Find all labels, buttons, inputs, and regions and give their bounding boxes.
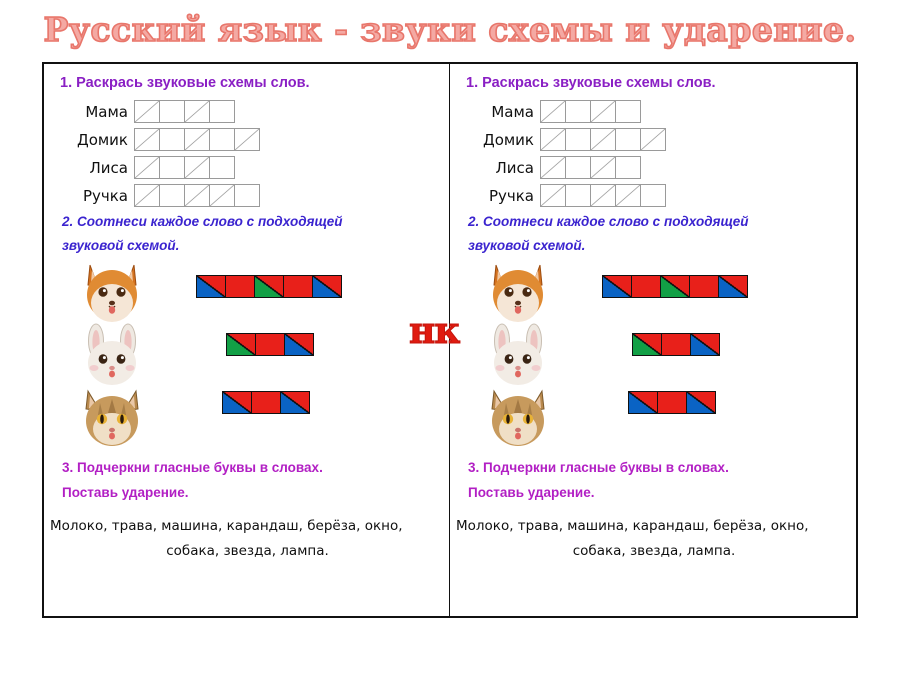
scheme-cell[interactable] [234, 128, 260, 151]
scheme-cell[interactable] [209, 184, 235, 207]
word-label: Лиса [466, 159, 540, 177]
scheme-cell[interactable] [159, 100, 185, 123]
word-row: Мама [466, 98, 848, 125]
scheme-cell-colored[interactable] [222, 391, 252, 414]
rabbit-face-icon [76, 323, 148, 389]
rabbit-face-icon [482, 323, 554, 389]
scheme-cell-colored[interactable] [254, 275, 284, 298]
scheme-cell-colored[interactable] [251, 391, 281, 414]
task2-heading-line2: звуковой схемой. [468, 234, 848, 258]
scheme-cell-colored[interactable] [660, 275, 690, 298]
page-title: Русский язык - звуки схемы и ударение. [0, 10, 900, 49]
scheme-cell[interactable] [184, 184, 210, 207]
task3-heading-line1: 3. Подчеркни гласные буквы в словах. [468, 456, 848, 481]
word-list-line2: собака, звезда, лампа. [460, 539, 848, 564]
word-label: Мама [466, 103, 540, 121]
scheme-cell[interactable] [640, 184, 666, 207]
scheme-cell[interactable] [209, 128, 235, 151]
word-row: Домик [60, 126, 441, 153]
word-list-line2: собака, звезда, лампа. [54, 539, 441, 564]
scheme-cell[interactable] [134, 100, 160, 123]
scheme-cell[interactable] [615, 128, 641, 151]
sound-scheme-blank[interactable] [540, 184, 665, 207]
task3-heading-line2: Поставь ударение. [468, 481, 848, 506]
fox-face-icon [76, 261, 148, 327]
scheme-cell[interactable] [615, 184, 641, 207]
scheme-cell[interactable] [540, 128, 566, 151]
task3-word-list-left: Молоко, трава, машина, карандаш, берёза,… [54, 514, 441, 564]
task2-heading-line1: 2. Соотнеси каждое слово с подходящей [468, 210, 848, 234]
task1-word-rows-left: Мама Домик [60, 98, 441, 209]
task1-heading-left: 1. Раскрась звуковые схемы слов. [60, 75, 441, 91]
scheme-cell[interactable] [540, 184, 566, 207]
worksheet-page: Русский язык - звуки схемы и ударение. 1… [0, 0, 900, 675]
scheme-cell[interactable] [590, 100, 616, 123]
task1-word-rows-right: Мама Домик [466, 98, 848, 209]
scheme-cell-colored[interactable] [718, 275, 748, 298]
cat-face-icon [76, 385, 148, 451]
sound-scheme-blank[interactable] [540, 156, 640, 179]
word-list-line1: Молоко, трава, машина, карандаш, берёза,… [456, 514, 848, 539]
scheme-cell-colored[interactable] [657, 391, 687, 414]
sound-scheme-blank[interactable] [540, 100, 640, 123]
scheme-cell-colored[interactable] [632, 333, 662, 356]
worksheet-panel-right: 1. Раскрась звуковые схемы слов. Мама До… [450, 64, 856, 616]
color-sound-scheme[interactable] [632, 333, 719, 356]
scheme-cell-colored[interactable] [225, 275, 255, 298]
scheme-cell[interactable] [590, 156, 616, 179]
word-label: Домик [466, 131, 540, 149]
scheme-cell-colored[interactable] [689, 275, 719, 298]
color-sound-scheme[interactable] [222, 391, 309, 414]
scheme-cell[interactable] [540, 100, 566, 123]
task2-heading-right: 2. Соотнеси каждое слово с подходящей зв… [468, 210, 848, 257]
worksheet-panel-left: 1. Раскрась звуковые схемы слов. Мама До… [44, 64, 450, 616]
word-label: Ручка [466, 187, 540, 205]
scheme-cell-colored[interactable] [631, 275, 661, 298]
scheme-cell-colored[interactable] [628, 391, 658, 414]
color-sound-scheme[interactable] [226, 333, 313, 356]
word-label: Лиса [60, 159, 134, 177]
scheme-cell[interactable] [159, 128, 185, 151]
center-stamp-text: нк [409, 313, 459, 349]
scheme-cell-colored[interactable] [196, 275, 226, 298]
scheme-cell-colored[interactable] [661, 333, 691, 356]
sound-scheme-blank[interactable] [540, 128, 665, 151]
scheme-cell-colored[interactable] [602, 275, 632, 298]
scheme-cell-colored[interactable] [280, 391, 310, 414]
scheme-cell[interactable] [615, 100, 641, 123]
scheme-cell-colored[interactable] [283, 275, 313, 298]
word-row: Лиса [60, 154, 441, 181]
task3-heading-left: 3. Подчеркни гласные буквы в словах. Пос… [62, 456, 441, 506]
task3-word-list-right: Молоко, трава, машина, карандаш, берёза,… [460, 514, 848, 564]
scheme-cell[interactable] [565, 128, 591, 151]
scheme-cell[interactable] [590, 184, 616, 207]
scheme-cell[interactable] [540, 156, 566, 179]
sound-scheme-blank[interactable] [134, 184, 259, 207]
cat-face-icon [482, 385, 554, 451]
task2-heading-line2: звуковой схемой. [62, 234, 441, 258]
task2-heading-left: 2. Соотнеси каждое слово с подходящей зв… [62, 210, 441, 257]
sound-scheme-blank[interactable] [134, 100, 234, 123]
word-row: Ручка [60, 182, 441, 209]
task2-heading-line1: 2. Соотнеси каждое слово с подходящей [62, 210, 441, 234]
scheme-cell[interactable] [184, 100, 210, 123]
task3-heading-line2: Поставь ударение. [62, 481, 441, 506]
scheme-cell[interactable] [565, 156, 591, 179]
word-label: Домик [60, 131, 134, 149]
scheme-cell[interactable] [565, 184, 591, 207]
scheme-cell[interactable] [184, 156, 210, 179]
word-row: Мама [60, 98, 441, 125]
scheme-cell-colored[interactable] [686, 391, 716, 414]
color-sound-scheme[interactable] [602, 275, 747, 298]
scheme-cell[interactable] [159, 184, 185, 207]
task1-heading-right: 1. Раскрась звуковые схемы слов. [466, 75, 848, 91]
scheme-cell[interactable] [134, 184, 160, 207]
sound-scheme-blank[interactable] [134, 128, 259, 151]
color-sound-scheme[interactable] [628, 391, 715, 414]
color-sound-scheme[interactable] [196, 275, 341, 298]
task2-match-area-right [460, 261, 848, 456]
scheme-cell-colored[interactable] [312, 275, 342, 298]
word-row: Домик [466, 126, 848, 153]
scheme-cell[interactable] [590, 128, 616, 151]
scheme-cell[interactable] [184, 128, 210, 151]
scheme-cell-colored[interactable] [226, 333, 256, 356]
word-row: Ручка [466, 182, 848, 209]
scheme-cell-colored[interactable] [690, 333, 720, 356]
word-label: Мама [60, 103, 134, 121]
scheme-cell[interactable] [640, 128, 666, 151]
scheme-cell-colored[interactable] [284, 333, 314, 356]
scheme-cell[interactable] [134, 128, 160, 151]
scheme-cell[interactable] [615, 156, 641, 179]
scheme-cell[interactable] [565, 100, 591, 123]
task2-match-area-left [54, 261, 441, 456]
scheme-cell[interactable] [209, 100, 235, 123]
scheme-cell-colored[interactable] [255, 333, 285, 356]
scheme-cell[interactable] [159, 156, 185, 179]
sound-scheme-blank[interactable] [134, 156, 234, 179]
task3-heading-right: 3. Подчеркни гласные буквы в словах. Пос… [468, 456, 848, 506]
scheme-cell[interactable] [234, 184, 260, 207]
word-list-line1: Молоко, трава, машина, карандаш, берёза,… [50, 514, 441, 539]
scheme-cell[interactable] [209, 156, 235, 179]
scheme-cell[interactable] [134, 156, 160, 179]
word-label: Ручка [60, 187, 134, 205]
fox-face-icon [482, 261, 554, 327]
task3-heading-line1: 3. Подчеркни гласные буквы в словах. [62, 456, 441, 481]
word-row: Лиса [466, 154, 848, 181]
